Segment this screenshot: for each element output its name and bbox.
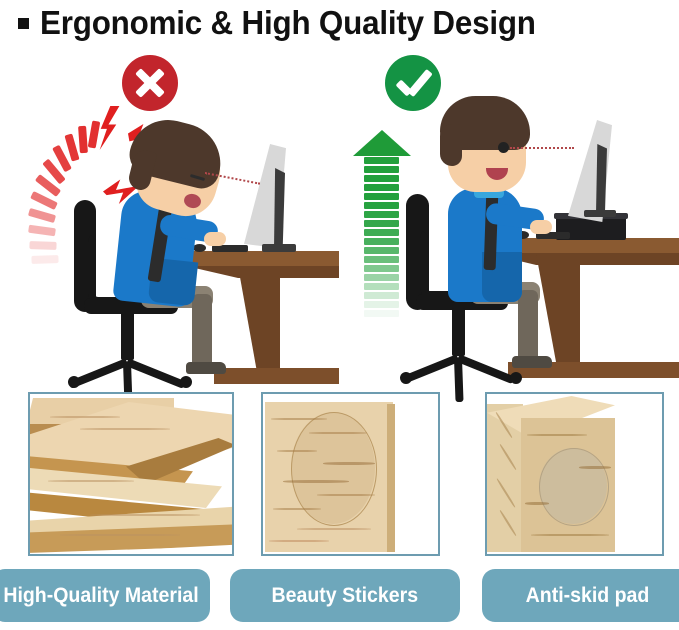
chair-caster <box>68 376 80 388</box>
person-hand <box>204 232 226 246</box>
desk-leg <box>238 266 280 374</box>
monitor-stand-neck <box>274 168 285 252</box>
feature-label-beauty-stickers[interactable]: Beauty Stickers <box>230 569 460 622</box>
pain-bolt-icon <box>96 106 122 150</box>
red-x-badge-icon <box>122 55 178 111</box>
chair-caster <box>510 372 522 384</box>
chair-gas-cylinder <box>121 312 134 360</box>
square-bullet-icon <box>18 18 29 29</box>
chair-leg <box>126 358 186 389</box>
feature-image-anti-skid-pad <box>485 392 664 556</box>
monitor-stand-base <box>262 244 296 252</box>
monitor-stand-base <box>584 210 616 217</box>
mouse <box>193 244 206 252</box>
keyboard <box>212 245 248 252</box>
level-gaze-line-icon <box>510 147 574 149</box>
person-shoe <box>512 356 552 368</box>
feature-label-text: Anti-skid pad <box>526 584 650 608</box>
feature-label-text: Beauty Stickers <box>272 584 419 608</box>
chair-caster <box>400 372 412 384</box>
feature-image-high-quality-material <box>28 392 234 556</box>
chair-leg <box>457 354 516 384</box>
person-hair-side <box>440 124 462 166</box>
good-posture-illustration <box>340 46 679 384</box>
bad-posture-illustration <box>0 46 339 384</box>
feature-label-anti-skid-pad[interactable]: Anti-skid pad <box>482 569 679 622</box>
infographic-page: Ergonomic & High Quality Design <box>0 0 679 630</box>
desk-base <box>214 368 339 384</box>
person-eye <box>498 142 509 153</box>
desk-leg <box>536 253 580 368</box>
person-hand <box>530 220 552 234</box>
feature-label-high-quality-material[interactable]: High-Quality Material <box>0 569 210 622</box>
desk-surface <box>186 251 339 266</box>
person-shoe <box>186 362 226 374</box>
page-title-text: Ergonomic & High Quality Design <box>40 4 536 42</box>
monitor-stand-neck <box>596 144 607 218</box>
feature-label-text: High-Quality Material <box>3 584 198 608</box>
person-lower-leg <box>192 294 212 372</box>
chair-leg <box>454 358 464 402</box>
chair-caster <box>180 376 192 388</box>
page-title: Ergonomic & High Quality Design <box>0 0 679 46</box>
chair-gas-cylinder <box>452 308 465 356</box>
person-lower-leg <box>518 290 538 366</box>
feature-image-beauty-stickers <box>261 392 440 556</box>
green-check-badge-icon <box>385 55 441 111</box>
